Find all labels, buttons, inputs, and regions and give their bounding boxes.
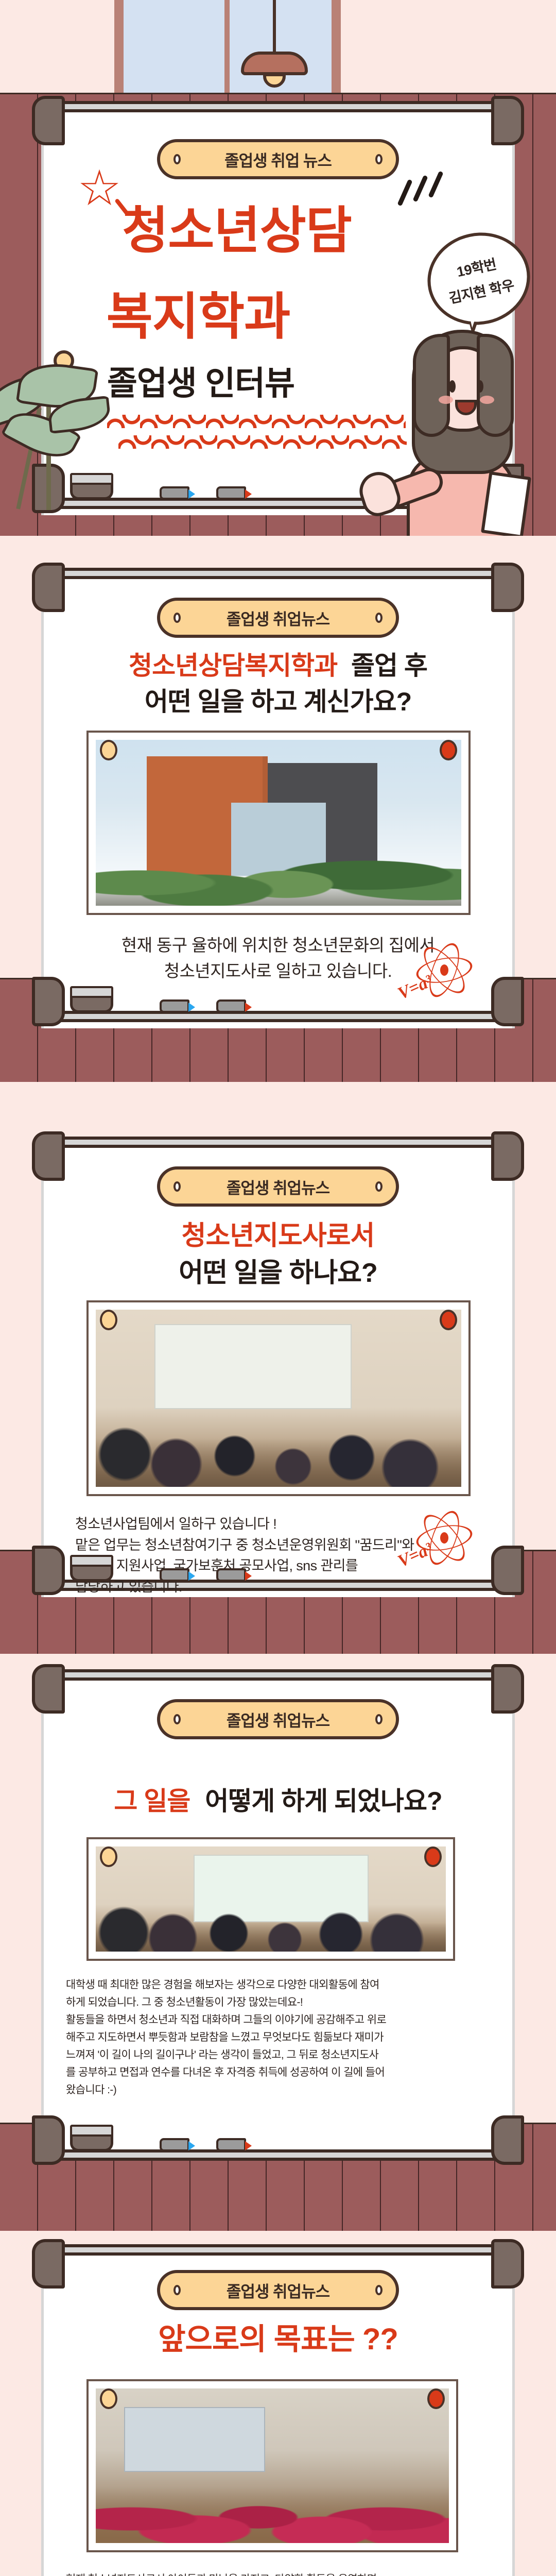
- magnet-yellow: [100, 1846, 117, 1867]
- q3-answer-line: 를 공부하고 면접과 연수를 다녀온 후 자격증 취득에 성공하여 이 길에 들…: [66, 2064, 507, 2081]
- underline-wave-1: [107, 415, 406, 428]
- q4-question: 앞으로의 목표는 ??: [0, 2321, 556, 2358]
- q2-photo-frame: [86, 1300, 471, 1496]
- atom-core: [440, 1532, 448, 1544]
- plate-hole-left: [173, 1181, 181, 1192]
- atom-doodle: V=a³: [416, 942, 473, 998]
- eraser: [70, 2125, 113, 2151]
- board-corner-top-right: [491, 96, 524, 145]
- board-tray: [62, 982, 329, 1018]
- board-corner-bottom-left: [32, 977, 65, 1026]
- board-corner-top-right: [491, 1131, 524, 1181]
- board-tray: [62, 1551, 329, 1587]
- photo-audience: [96, 1903, 446, 1952]
- q3-question-red: 그 일을: [114, 1787, 190, 1816]
- board-corner-bottom-right: [491, 977, 524, 1026]
- q1-question-red: 청소년상담복지학과: [129, 651, 337, 680]
- board-corner-top-left: [32, 96, 65, 145]
- whiteboard-top-rail: [41, 1137, 515, 1148]
- photo-red-chairs: [96, 2463, 449, 2543]
- q3-question: 그 일을 어떻게 하게 되었나요?: [0, 1786, 556, 1817]
- plate-label: 졸업생 취업뉴스: [227, 2279, 329, 2302]
- magnet-yellow: [100, 2388, 117, 2409]
- board-corner-bottom-right: [491, 2115, 524, 2165]
- badge-plate: 졸업생 취업 뉴스: [157, 139, 399, 179]
- card-news-page: 졸업생 취업 뉴스 ☆ 청소년상담 복지학과 졸업생 인터뷰 19학번 김지현 …: [0, 0, 556, 2576]
- marker-red: [216, 486, 246, 500]
- slide-q1: 졸업생 취업뉴스 청소년상담복지학과 졸업 후 어떤 일을 하고 계신가요? 현…: [0, 536, 556, 1082]
- plate-hole-right: [375, 2285, 383, 2295]
- magnet-red: [440, 1310, 457, 1330]
- board-corner-bottom-right: [491, 1546, 524, 1595]
- q3-answer-line: 대학생 때 최대한 많은 경험을 해보자는 생각으로 다양한 대외활동에 참여: [66, 1976, 507, 1994]
- atom-doodle: V=a³: [416, 1510, 473, 1566]
- plate-label: 졸업생 취업뉴스: [227, 1175, 329, 1198]
- q3-photo: [96, 1846, 446, 1952]
- badge-plate: 졸업생 취업뉴스: [157, 2270, 399, 2310]
- star-doodle: ☆: [77, 164, 121, 213]
- whiteboard-top-rail: [41, 1669, 515, 1681]
- q3-answer-line: 느껴져 '이 길이 나의 길이구나' 라는 생각이 들었고, 그 뒤로 청소년지…: [66, 2046, 507, 2064]
- whiteboard-top-rail: [41, 101, 515, 112]
- eraser: [70, 1555, 113, 1582]
- plate-label: 졸업생 취업뉴스: [227, 606, 329, 630]
- photo-audience: [96, 1405, 461, 1487]
- magnet-red: [440, 740, 457, 760]
- plate-hole-left: [173, 154, 181, 164]
- plate-hole-right: [375, 1714, 383, 1724]
- bubble-line-2: 김지현 학우: [447, 274, 516, 308]
- board-corner-bottom-left: [32, 2115, 65, 2165]
- badge-plate: 졸업생 취업뉴스: [157, 1699, 399, 1739]
- board-corner-top-left: [32, 1664, 65, 1714]
- underline-wave-2: [118, 435, 407, 449]
- girl-hair-front-left: [413, 334, 450, 437]
- photo-projector-screen: [154, 1324, 352, 1409]
- q3-question-black: 어떻게 하게 되었나요?: [205, 1787, 442, 1816]
- plate-hole-right: [375, 1181, 383, 1192]
- slide-cover: 졸업생 취업 뉴스 ☆ 청소년상담 복지학과 졸업생 인터뷰 19학번 김지현 …: [0, 0, 556, 536]
- q3-answer-line: 왔습니다 :-): [66, 2081, 507, 2099]
- cover-title-line2: 복지학과: [0, 286, 396, 348]
- marker-red: [216, 2138, 246, 2151]
- slide-q4: 졸업생 취업뉴스 앞으로의 목표는 ?? 현재 청소년지도사로서 아이들과 만남…: [0, 2231, 556, 2576]
- atom-core: [440, 964, 448, 976]
- plate-hole-left: [173, 2285, 181, 2295]
- q1-question-line2: 어떤 일을 하고 계신가요?: [0, 686, 556, 718]
- girl-book: [481, 471, 531, 536]
- q2-question-line1: 청소년지도사로서: [0, 1220, 556, 1252]
- plate-hole-right: [375, 613, 383, 623]
- window-decor: [114, 0, 341, 103]
- board-tray: [62, 2121, 329, 2157]
- board-corner-top-right: [491, 563, 524, 612]
- board-tray: [62, 469, 329, 505]
- badge-plate: 졸업생 취업뉴스: [157, 1166, 399, 1207]
- q4-answer: 현재 청소년지도사로서 아이들과 만남을 가지고, 다양한 활동을 운영하면 서…: [66, 2571, 507, 2576]
- lamp-cord: [273, 0, 276, 54]
- board-corner-top-right: [491, 2239, 524, 2289]
- whiteboard-top-rail: [41, 568, 515, 579]
- q3-answer: 대학생 때 최대한 많은 경험을 해보자는 생각으로 다양한 대외활동에 참여 …: [66, 1976, 507, 2099]
- lamp-shade: [241, 52, 308, 75]
- eraser: [70, 986, 113, 1013]
- marker-red: [216, 999, 246, 1013]
- magnet-yellow: [100, 740, 117, 760]
- q3-answer-line: 해주고 지도하면서 뿌듯함과 보람참을 느꼈고 무엇보다도 힘듦보다 재미가: [66, 2029, 507, 2046]
- magnet-red: [427, 2388, 445, 2409]
- eraser: [70, 473, 113, 500]
- slide-q3: 졸업생 취업뉴스 그 일을 어떻게 하게 되었나요? 대학생 때 최대한 많은 …: [0, 1654, 556, 2231]
- marker-blue: [160, 1568, 189, 1582]
- q2-photo: [96, 1310, 461, 1487]
- board-corner-top-left: [32, 1131, 65, 1181]
- bubble-line-1: 19학번: [455, 253, 498, 281]
- q1-photo: [96, 740, 461, 906]
- girl-eye-left: [449, 380, 456, 393]
- board-corner-top-right: [491, 1664, 524, 1714]
- q1-question-black: 졸업 후: [351, 651, 427, 680]
- q2-question-line2: 어떤 일을 하나요?: [0, 1257, 556, 1290]
- plate-hole-left: [173, 1714, 181, 1724]
- whiteboard-top-rail: [41, 2244, 515, 2256]
- q3-answer-line: 하게 되었습니다. 그 중 청소년활동이 가장 많았는데요-!: [66, 1994, 507, 2011]
- plate-label: 졸업생 취업 뉴스: [224, 148, 332, 171]
- plate-label: 졸업생 취업뉴스: [227, 1708, 329, 1731]
- marker-blue: [160, 486, 189, 500]
- board-corner-top-left: [32, 2239, 65, 2289]
- window-mullion: [224, 0, 230, 103]
- q4-photo-frame: [86, 2379, 458, 2552]
- magnet-yellow: [100, 1310, 117, 1330]
- magnet-red: [424, 1846, 442, 1867]
- q3-photo-frame: [86, 1837, 455, 1961]
- q1-question-line1: 청소년상담복지학과 졸업 후: [0, 650, 556, 682]
- q1-photo-frame: [86, 731, 471, 915]
- marker-blue: [160, 999, 189, 1013]
- slide-q2: 졸업생 취업뉴스 청소년지도사로서 어떤 일을 하나요? 청소년사업팀에서 일하…: [0, 1082, 556, 1654]
- marker-blue: [160, 2138, 189, 2151]
- q4-answer-line: 현재 청소년지도사로서 아이들과 만남을 가지고, 다양한 활동을 운영하면: [66, 2571, 507, 2576]
- board-corner-top-left: [32, 563, 65, 612]
- board-corner-bottom-left: [32, 1546, 65, 1595]
- q3-answer-line: 활동들을 하면서 청소년과 직접 대화하며 그들의 이야기에 공감해주고 위로: [66, 2011, 507, 2029]
- student-illustration: [371, 319, 546, 536]
- plate-hole-right: [375, 154, 383, 164]
- girl-eye-right: [477, 380, 483, 393]
- plate-hole-left: [173, 613, 181, 623]
- badge-plate: 졸업생 취업뉴스: [157, 598, 399, 638]
- photo-trees: [96, 829, 461, 906]
- marker-red: [216, 1568, 246, 1582]
- q4-photo: [96, 2388, 449, 2543]
- emphasis-dashes: [403, 173, 454, 214]
- girl-cheek-right: [480, 396, 494, 404]
- girl-cheek-left: [439, 396, 453, 404]
